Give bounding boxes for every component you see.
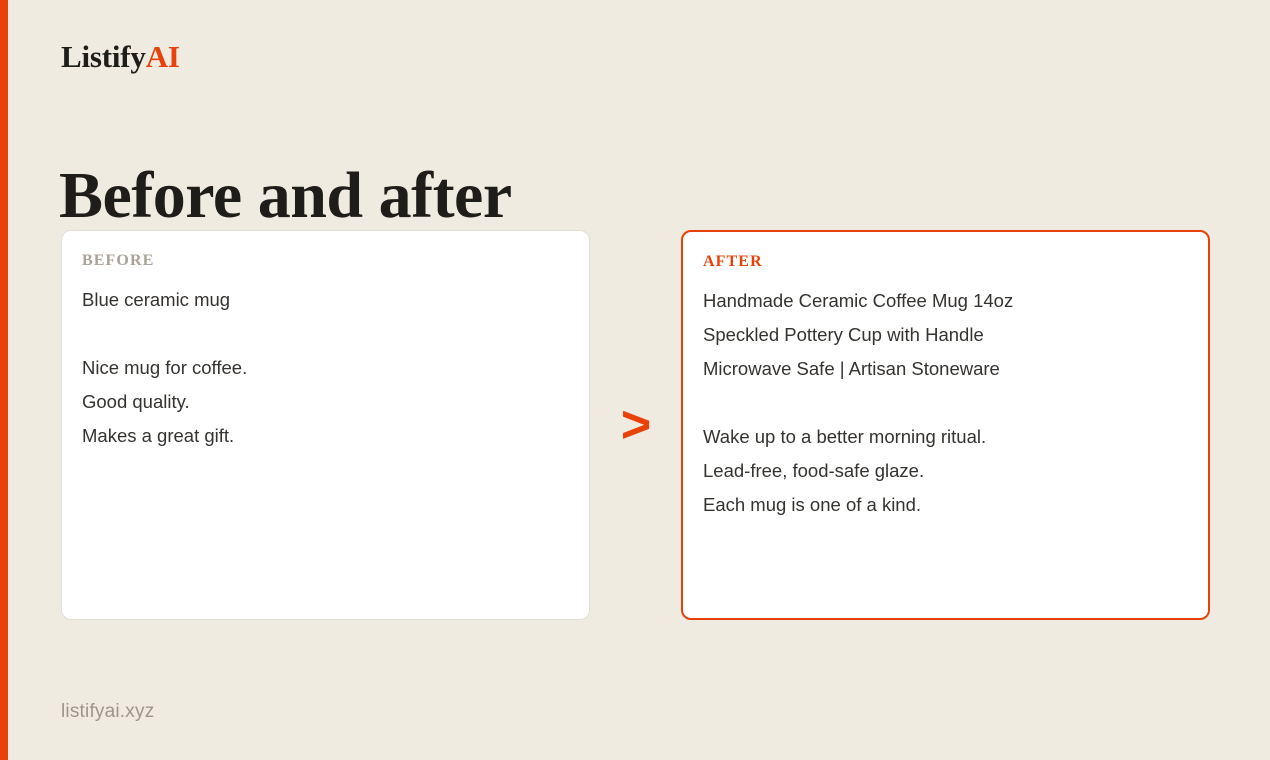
before-card-lines: Blue ceramic mug Nice mug for coffee.Goo… xyxy=(82,283,569,453)
brand-logo: ListifyAI xyxy=(61,41,180,72)
comparison-arrow-icon: > xyxy=(614,398,658,452)
left-accent-bar xyxy=(0,0,8,760)
before-line: Makes a great gift. xyxy=(82,419,569,453)
slide-canvas: ListifyAI Before and after BEFORE Blue c… xyxy=(0,0,1270,760)
before-line-spacer xyxy=(82,317,569,351)
brand-name-accent: AI xyxy=(146,39,180,74)
page-title: Before and after xyxy=(59,160,512,231)
after-line: Speckled Pottery Cup with Handle xyxy=(703,318,1188,352)
before-line: Good quality. xyxy=(82,385,569,419)
before-after-comparison: BEFORE Blue ceramic mug Nice mug for cof… xyxy=(0,0,1270,760)
after-line: Wake up to a better morning ritual. xyxy=(703,420,1188,454)
footer-url: listifyai.xyz xyxy=(61,701,154,723)
after-line-spacer xyxy=(703,386,1188,420)
after-line: Handmade Ceramic Coffee Mug 14oz xyxy=(703,284,1188,318)
before-line: Blue ceramic mug xyxy=(82,283,569,317)
before-card: BEFORE Blue ceramic mug Nice mug for cof… xyxy=(61,230,590,620)
after-card: AFTER Handmade Ceramic Coffee Mug 14ozSp… xyxy=(681,230,1210,620)
after-line: Microwave Safe | Artisan Stoneware xyxy=(703,352,1188,386)
before-line: Nice mug for coffee. xyxy=(82,351,569,385)
brand-name-main: Listify xyxy=(61,39,146,74)
before-card-label: BEFORE xyxy=(82,253,569,269)
after-line: Lead-free, food-safe glaze. xyxy=(703,454,1188,488)
after-card-label: AFTER xyxy=(703,254,1188,270)
after-card-lines: Handmade Ceramic Coffee Mug 14ozSpeckled… xyxy=(703,284,1188,522)
after-line: Each mug is one of a kind. xyxy=(703,488,1188,522)
